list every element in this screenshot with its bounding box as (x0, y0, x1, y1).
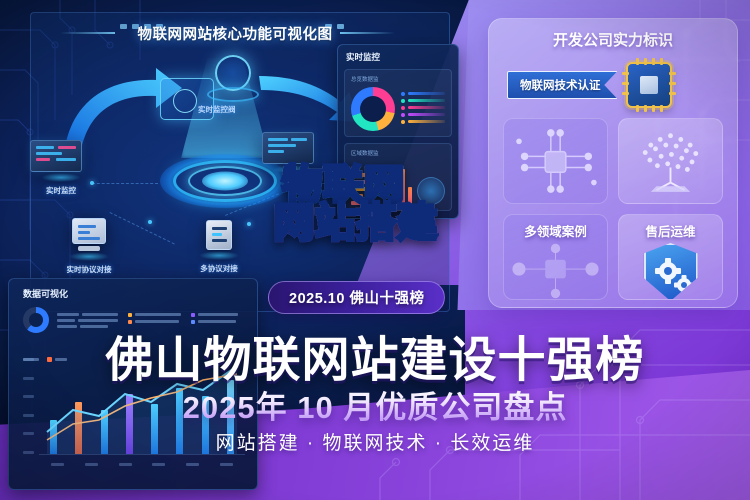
region-section-title: 区域数据监 (351, 149, 445, 157)
certification-row: 物联网技术认证 (507, 62, 737, 108)
laptop-icon (262, 132, 314, 164)
data-tree-icon (619, 119, 722, 203)
feature-card-label: 售后运维 (619, 221, 722, 240)
page-tagline: 网站搭建 · 物联网技术 · 长效运维 (0, 428, 750, 455)
node-monitor: 实时协议对接 (52, 218, 126, 275)
node-label-gauge: 实时监控阀 (198, 104, 236, 115)
right-panel-title: 开发公司实力标识 (489, 29, 737, 50)
gauge-base (207, 87, 259, 102)
date-rank-badge: 2025.10 佛山十强榜 (268, 281, 445, 314)
wordmark: 物联网 网站搭建 (282, 166, 438, 243)
node-label: 多协议对接 (182, 263, 256, 274)
page-title: 佛山物联网站建设十强榜 (0, 320, 750, 390)
feature-card-multi-domain[interactable]: 多领域案例 (503, 214, 608, 300)
feature-card-grid: 多领域案例 售后运维 (503, 118, 723, 300)
node-label: 实时监控 (30, 185, 92, 196)
feature-card-label: 多领域案例 (504, 221, 607, 240)
page-subtitle: 2025年 10 月优质公司盘点 (0, 382, 750, 427)
feature-card-after-sales[interactable]: 售后运维 (618, 214, 723, 300)
laptop-icon (30, 140, 82, 172)
chip-network-icon (504, 119, 607, 203)
node-server: 多协议对接 (182, 220, 256, 274)
network-nodes-icon (504, 239, 607, 300)
viz-card-title: 数据可视化 (23, 287, 257, 300)
monitor-icon (72, 218, 106, 244)
feature-card-chip-network[interactable] (503, 118, 608, 204)
node-laptop-left: 实时监控 (30, 140, 92, 196)
shield-gear-icon (644, 243, 698, 300)
node-label: 实时协议对接 (52, 264, 126, 275)
overview-section: 总览数据监 (344, 69, 452, 137)
poster-canvas: 物联网网站核心功能可视化图 实时监控阀 (0, 0, 750, 500)
donut-chart (351, 87, 395, 131)
overview-section-title: 总览数据监 (351, 75, 445, 83)
certification-ribbon[interactable]: 物联网技术认证 (507, 71, 618, 99)
wordmark-line-1: 物联网 (282, 166, 438, 204)
diagram-title: 物联网网站核心功能可视化图 (0, 23, 470, 44)
wordmark-line-2: 网站搭建 (274, 204, 438, 242)
gauge-icon (215, 55, 251, 91)
strength-badges-panel: 开发公司实力标识 物联网技术认证 (488, 18, 738, 308)
chart-x-labels (41, 463, 243, 466)
monitor-card-title: 实时监控 (346, 51, 458, 63)
feature-card-data-tree[interactable] (618, 118, 723, 204)
chip-icon (626, 62, 672, 108)
server-icon (206, 220, 232, 250)
